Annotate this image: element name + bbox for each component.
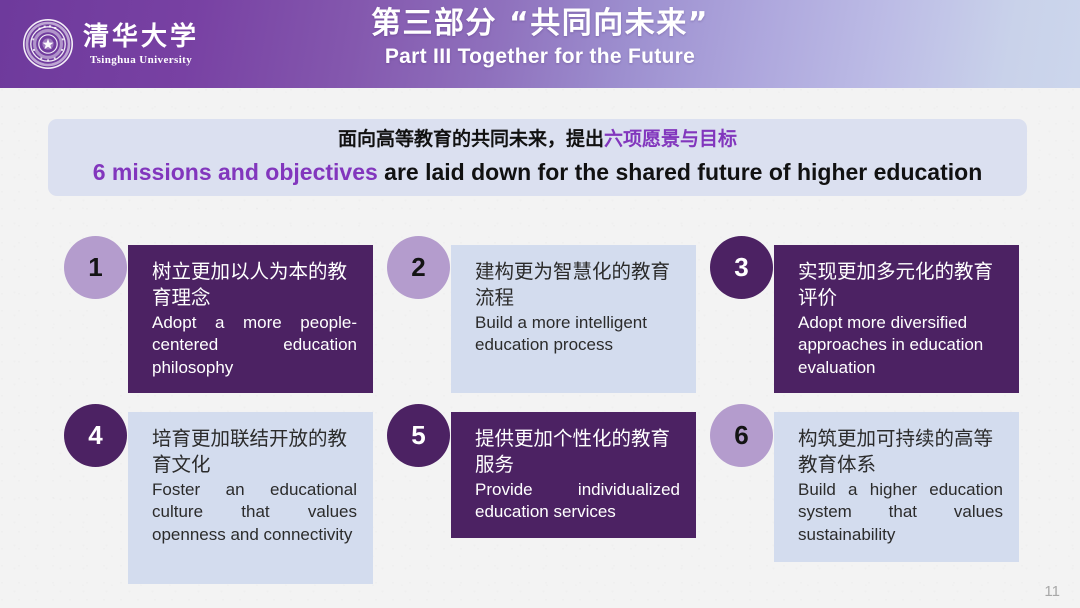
logo-name-cn: 清华大学 — [83, 24, 199, 51]
banner-line1-highlight: 六项愿景与目标 — [604, 128, 737, 150]
objective-card-1[interactable]: 树立更加以人为本的教育理念 Adopt a more people-center… — [128, 245, 373, 393]
objective-title-cn-2: 建构更为智慧化的教育流程 — [475, 259, 680, 311]
tsinghua-logo: 清华大学 Tsinghua University — [22, 18, 199, 70]
banner-line-en: 6 missions and objectives are laid down … — [93, 158, 983, 188]
slide-canvas: 清华大学 Tsinghua University 第三部分 “共同向未来” Pa… — [0, 0, 1080, 608]
banner-line2-highlight: 6 missions and objectives — [93, 159, 378, 185]
slide-header-band: 清华大学 Tsinghua University 第三部分 “共同向未来” Pa… — [0, 0, 1080, 88]
objective-card-3[interactable]: 实现更加多元化的教育评价 Adopt more diversified appr… — [774, 245, 1019, 393]
tsinghua-logo-text: 清华大学 Tsinghua University — [83, 24, 199, 65]
objective-badge-2: 2 — [387, 236, 450, 299]
objective-badge-4: 4 — [64, 404, 127, 467]
objective-badge-6: 6 — [710, 404, 773, 467]
objective-badge-5: 5 — [387, 404, 450, 467]
objective-title-cn-5: 提供更加个性化的教育服务 — [475, 426, 680, 478]
objective-card-6[interactable]: 构筑更加可持续的高等教育体系 Build a higher education … — [774, 412, 1019, 562]
objective-badge-3: 3 — [710, 236, 773, 299]
page-number: 11 — [1044, 583, 1060, 600]
objective-title-cn-3: 实现更加多元化的教育评价 — [798, 259, 1003, 311]
objective-title-en-2: Build a more intelligent education proce… — [475, 312, 680, 357]
objective-title-en-4: Foster an educational culture that value… — [152, 479, 357, 547]
objective-title-en-6: Build a higher education system that val… — [798, 479, 1003, 547]
objective-title-cn-6: 构筑更加可持续的高等教育体系 — [798, 426, 1003, 478]
objective-title-cn-4: 培育更加联结开放的教育文化 — [152, 426, 357, 478]
banner-line-cn: 面向高等教育的共同未来，提出六项愿景与目标 — [338, 127, 737, 152]
objective-title-en-5: Provide individualized education service… — [475, 479, 680, 524]
logo-name-en: Tsinghua University — [90, 54, 192, 66]
objective-badge-1: 1 — [64, 236, 127, 299]
summary-banner: 面向高等教育的共同未来，提出六项愿景与目标 6 missions and obj… — [48, 119, 1027, 196]
banner-line1-prefix: 面向高等教育的共同未来，提出 — [338, 128, 604, 150]
objective-card-5[interactable]: 提供更加个性化的教育服务 Provide individualized educ… — [451, 412, 696, 538]
objective-card-4[interactable]: 培育更加联结开放的教育文化 Foster an educational cult… — [128, 412, 373, 584]
tsinghua-emblem-icon — [22, 18, 74, 70]
banner-line2-suffix: are laid down for the shared future of h… — [378, 159, 982, 185]
objective-title-cn-1: 树立更加以人为本的教育理念 — [152, 259, 357, 311]
objective-card-2[interactable]: 建构更为智慧化的教育流程 Build a more intelligent ed… — [451, 245, 696, 393]
objective-title-en-3: Adopt more diversified approaches in edu… — [798, 312, 1003, 380]
objective-title-en-1: Adopt a more people-centered education p… — [152, 312, 357, 380]
